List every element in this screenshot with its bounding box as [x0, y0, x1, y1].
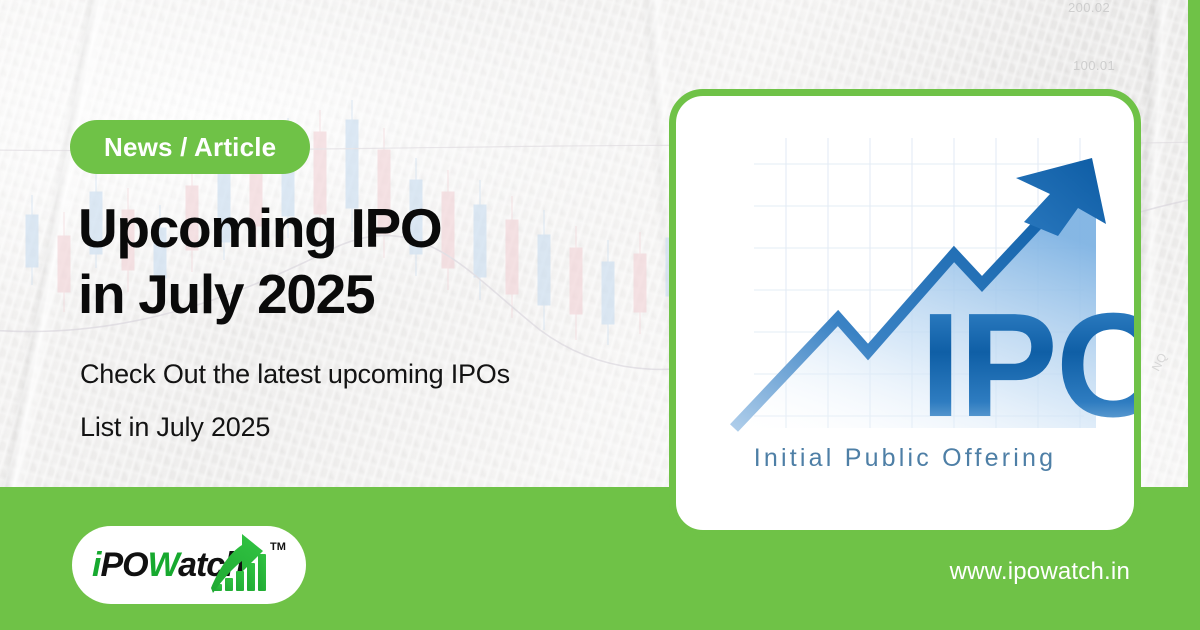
- ipo-arrow-chart-graphic: IPO Initial Public Offering: [676, 96, 1134, 530]
- page-title-line2: in July 2025: [78, 261, 718, 327]
- ipo-news-banner: 200.02 100.01 NQ News / Article Upcoming…: [0, 0, 1200, 630]
- category-badge-label: News / Article: [104, 132, 276, 163]
- ipo-graphic-card: IPO Initial Public Offering: [669, 89, 1141, 537]
- page-subtitle-line2: List in July 2025: [80, 401, 720, 454]
- category-badge[interactable]: News / Article: [70, 120, 310, 174]
- ipowatch-logo[interactable]: iPOWatch TM: [72, 526, 306, 604]
- page-subtitle-line1: Check Out the latest upcoming IPOs: [80, 359, 510, 389]
- page-title-line1: Upcoming IPO: [78, 197, 441, 259]
- right-green-edge-strip: [1188, 0, 1200, 487]
- logo-trademark-symbol: TM: [270, 541, 286, 553]
- axis-label-200: 200.02: [1068, 0, 1110, 15]
- axis-label-100: 100.01: [1073, 58, 1115, 73]
- ipo-tagline: Initial Public Offering: [754, 444, 1056, 472]
- ipowatch-logo-mark: iPOWatch TM: [84, 534, 294, 596]
- site-url[interactable]: www.ipowatch.in: [950, 558, 1130, 586]
- ipo-wordmark: IPO: [920, 283, 1134, 448]
- page-subtitle: Check Out the latest upcoming IPOs List …: [80, 348, 720, 453]
- page-title: Upcoming IPO in July 2025: [78, 195, 718, 327]
